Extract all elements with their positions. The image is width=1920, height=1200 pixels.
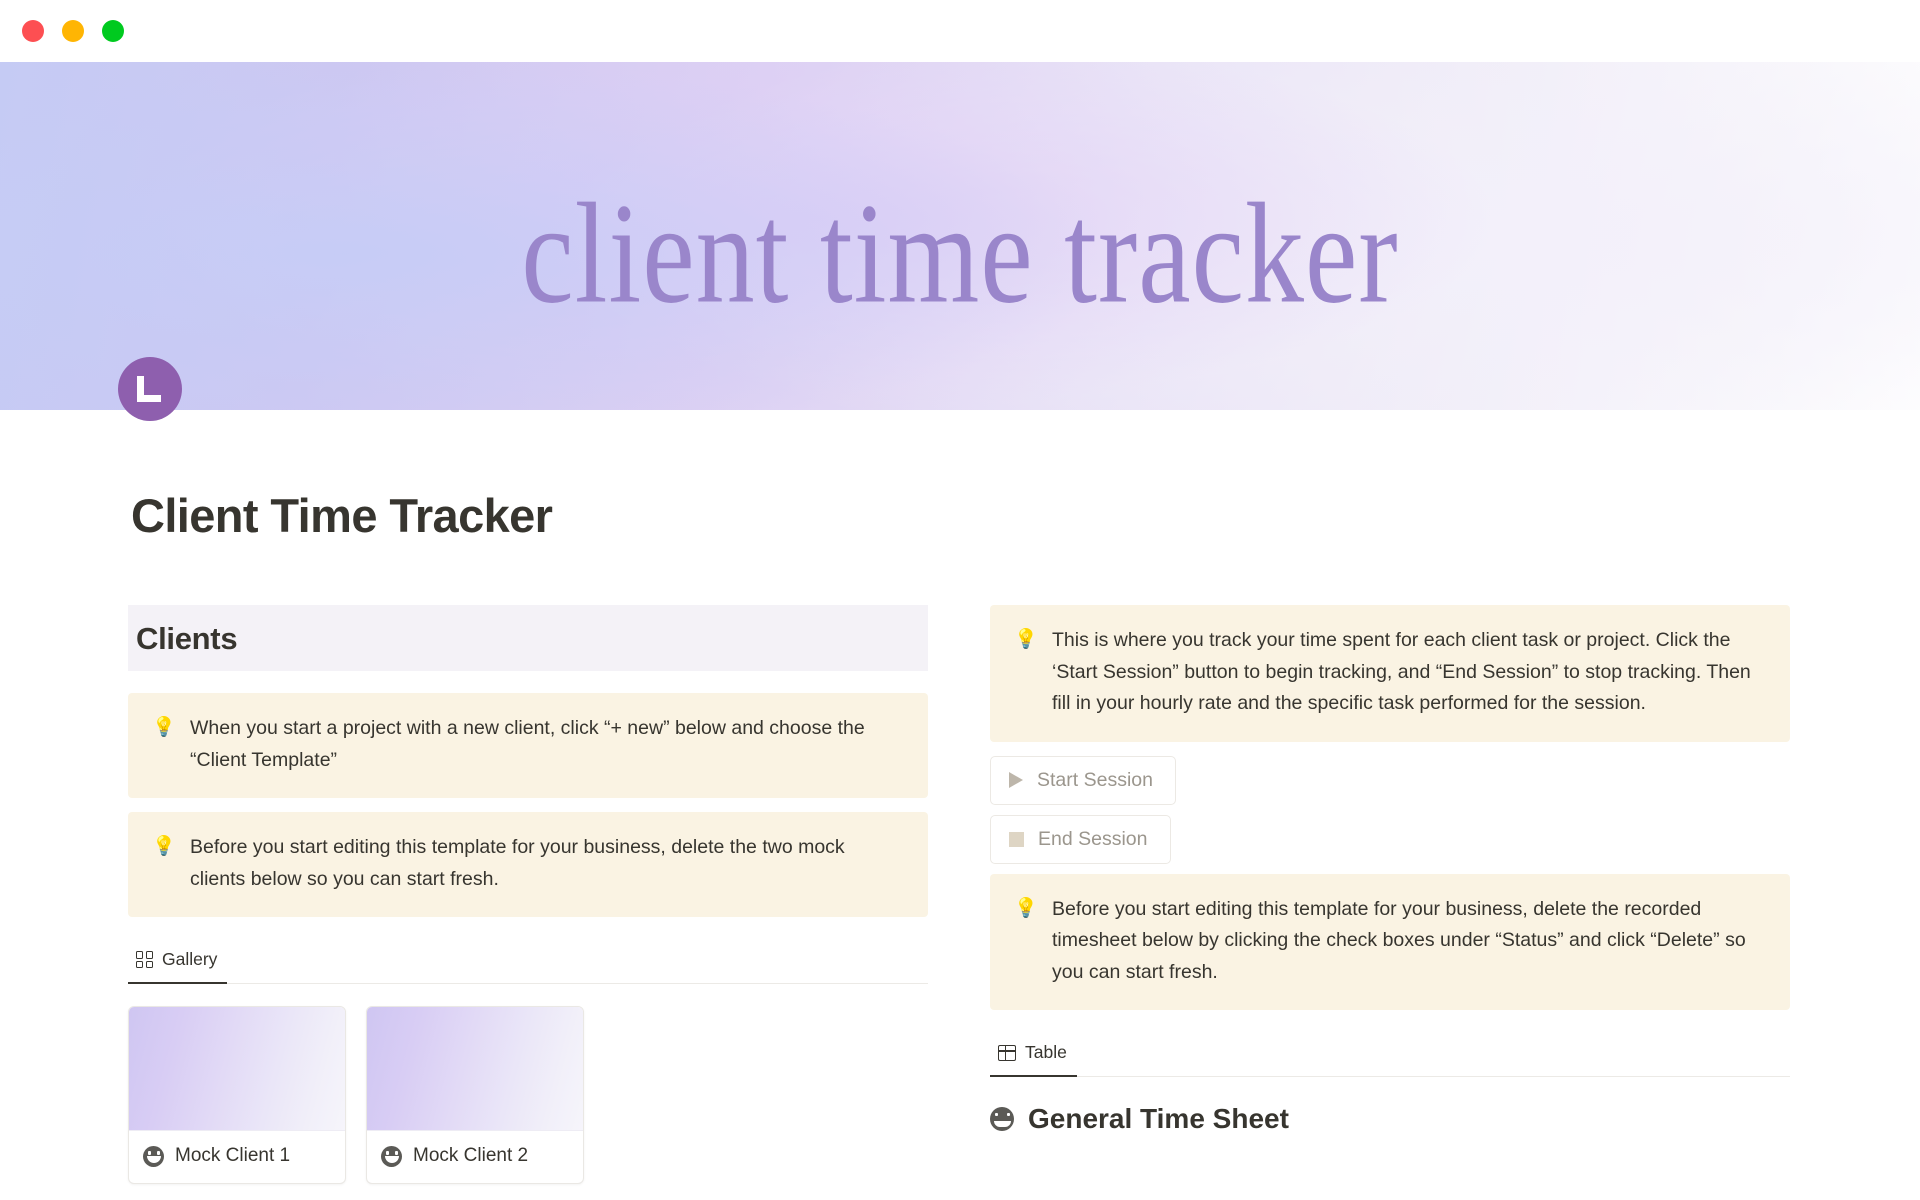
clock-hands bbox=[137, 376, 163, 402]
grinning-face-icon bbox=[143, 1146, 164, 1167]
card-title: Mock Client 1 bbox=[175, 1145, 290, 1167]
database-title: General Time Sheet bbox=[1028, 1103, 1289, 1135]
clients-heading-block: Clients bbox=[128, 605, 928, 671]
cover-banner: client time tracker bbox=[0, 62, 1920, 410]
table-grid-icon bbox=[998, 1045, 1016, 1061]
card-title: Mock Client 2 bbox=[413, 1145, 528, 1167]
stop-icon bbox=[1009, 832, 1024, 847]
grinning-face-icon bbox=[990, 1107, 1014, 1131]
close-button[interactable] bbox=[22, 20, 44, 42]
client-card[interactable]: Mock Client 1 bbox=[128, 1006, 346, 1184]
callout-delete-timesheet: 💡 Before you start editing this template… bbox=[990, 874, 1790, 1011]
play-icon bbox=[1009, 772, 1023, 788]
right-column: 💡 This is where you track your time spen… bbox=[990, 605, 1790, 1184]
callout-delete-mock-clients: 💡 Before you start editing this template… bbox=[128, 812, 928, 917]
clients-heading: Clients bbox=[136, 621, 928, 657]
lightbulb-icon: 💡 bbox=[1014, 627, 1036, 654]
client-gallery: Mock Client 1 Mock Client 2 bbox=[128, 1006, 928, 1184]
client-card[interactable]: Mock Client 2 bbox=[366, 1006, 584, 1184]
card-cover-image bbox=[367, 1007, 583, 1131]
card-cover-image bbox=[129, 1007, 345, 1131]
callout-text: This is where you track your time spent … bbox=[1052, 625, 1766, 720]
clock-hand-minute bbox=[137, 395, 161, 402]
page-title: Client Time Tracker bbox=[131, 488, 1920, 543]
maximize-button[interactable] bbox=[102, 20, 124, 42]
lightbulb-icon: 💡 bbox=[1014, 896, 1036, 923]
session-buttons: Start Session End Session bbox=[990, 756, 1790, 874]
window-titlebar bbox=[0, 0, 1920, 62]
card-title-row: Mock Client 1 bbox=[129, 1131, 345, 1183]
left-column: Clients 💡 When you start a project with … bbox=[128, 605, 928, 1184]
tab-gallery-label: Gallery bbox=[162, 949, 217, 970]
tab-table[interactable]: Table bbox=[990, 1036, 1077, 1077]
tab-table-label: Table bbox=[1025, 1042, 1067, 1063]
grinning-face-icon bbox=[381, 1146, 402, 1167]
table-view-tabs: Table bbox=[990, 1036, 1790, 1077]
gallery-view-tabs: Gallery bbox=[128, 943, 928, 984]
lightbulb-icon: 💡 bbox=[152, 834, 174, 861]
window-controls bbox=[22, 20, 124, 42]
callout-new-client: 💡 When you start a project with a new cl… bbox=[128, 693, 928, 798]
cover-banner-text: client time tracker bbox=[0, 182, 1920, 326]
gallery-grid-icon bbox=[136, 951, 153, 968]
end-session-button[interactable]: End Session bbox=[990, 815, 1171, 864]
start-session-button[interactable]: Start Session bbox=[990, 756, 1176, 805]
callout-text: When you start a project with a new clie… bbox=[190, 713, 904, 776]
callout-text: Before you start editing this template f… bbox=[1052, 894, 1766, 989]
callout-text: Before you start editing this template f… bbox=[190, 832, 904, 895]
minimize-button[interactable] bbox=[62, 20, 84, 42]
clock-hand-hour bbox=[137, 376, 144, 396]
database-title-row: General Time Sheet bbox=[990, 1103, 1790, 1135]
lightbulb-icon: 💡 bbox=[152, 715, 174, 742]
two-column-layout: Clients 💡 When you start a project with … bbox=[0, 605, 1920, 1184]
page-body: Client Time Tracker Clients 💡 When you s… bbox=[0, 488, 1920, 1184]
tab-gallery[interactable]: Gallery bbox=[128, 943, 227, 984]
end-session-label: End Session bbox=[1038, 828, 1148, 851]
clock-icon[interactable] bbox=[118, 357, 182, 421]
callout-session-instructions: 💡 This is where you track your time spen… bbox=[990, 605, 1790, 742]
start-session-label: Start Session bbox=[1037, 769, 1153, 792]
card-title-row: Mock Client 2 bbox=[367, 1131, 583, 1183]
